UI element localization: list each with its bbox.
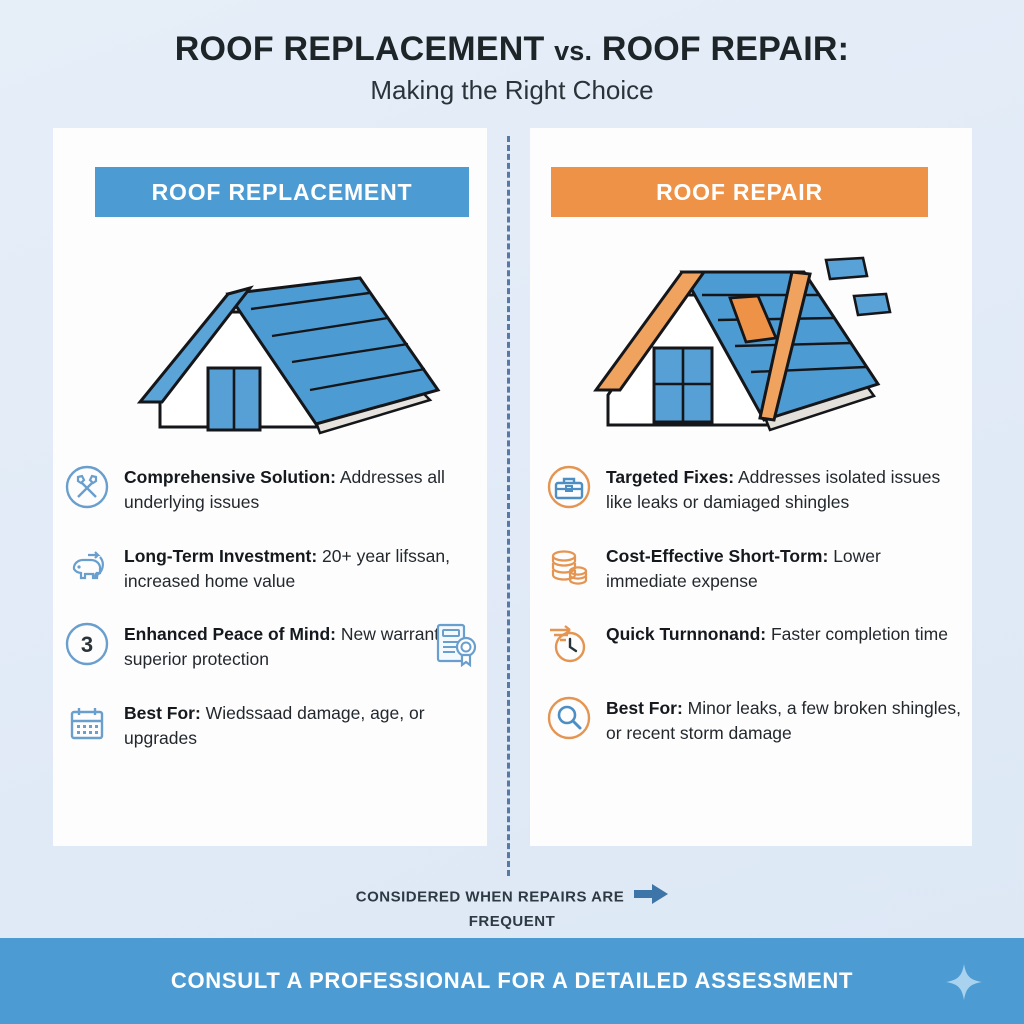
footer-cta-text: CONSULT A PROFESSIONAL FOR A DETAILED AS… xyxy=(0,938,1024,1024)
page-subtitle: Making the Right Choice xyxy=(0,75,1024,106)
bullet-title: Quick Turnnonand: xyxy=(606,624,766,644)
infographic-canvas: ROOF REPLACEMENT vs. ROOF REPAIR: Making… xyxy=(0,0,1024,1024)
title-part-vs: vs. xyxy=(554,36,592,66)
certificate-seal-icon xyxy=(430,619,482,671)
bullet-title: Enhanced Peace of Mind: xyxy=(124,624,336,644)
bullet-title: Cost-Effective Short-Torm: xyxy=(606,546,828,566)
fast-clock-icon xyxy=(546,621,592,667)
footer-banner: CONSULT A PROFESSIONAL FOR A DETAILED AS… xyxy=(0,938,1024,1024)
bullet-title: Comprehensive Solution: xyxy=(124,467,336,487)
piggy-bank-return-icon xyxy=(64,543,110,589)
number-three-icon: 3 xyxy=(64,621,110,667)
title-part-replacement: ROOF REPLACEMENT xyxy=(175,30,554,68)
sparkle-icon xyxy=(946,964,982,1000)
page-header: ROOF REPLACEMENT vs. ROOF REPAIR: Making… xyxy=(0,30,1024,106)
tools-crossed-icon xyxy=(64,464,110,510)
calendar-icon xyxy=(64,700,110,746)
bullet-item: Best For: Minor leaks, a few broken shin… xyxy=(546,693,962,746)
bullet-text: Cost-Effective Short-Torm: Lower immedia… xyxy=(606,541,962,594)
coin-stack-icon xyxy=(546,543,592,589)
bullet-item: Long-Term Investment: 20+ year lifssan, … xyxy=(64,541,476,594)
bullet-text: Best For: Wiedssaad damage, age, or upgr… xyxy=(124,698,476,751)
column-header-replacement: ROOF REPLACEMENT xyxy=(95,167,469,217)
bottom-note-line1: CONSIDERED WHEN REPAIRS ARE xyxy=(356,888,625,905)
bullet-text: Long-Term Investment: 20+ year lifssan, … xyxy=(124,541,476,594)
page-title: ROOF REPLACEMENT vs. ROOF REPAIR: xyxy=(0,30,1024,68)
svg-text:3: 3 xyxy=(81,632,93,657)
bullet-item: Best For: Wiedssaad damage, age, or upgr… xyxy=(64,698,476,751)
bottom-note: CONSIDERED WHEN REPAIRS ARE FREQUENT xyxy=(0,884,1024,933)
arrow-right-icon xyxy=(634,884,668,911)
bullet-text: Targeted Fixes: Addresses isolated issue… xyxy=(606,462,962,515)
bullet-list-replacement: Comprehensive Solution: Addresses all un… xyxy=(64,462,476,777)
bullet-title: Long-Term Investment: xyxy=(124,546,317,566)
bullet-item: Cost-Effective Short-Torm: Lower immedia… xyxy=(546,541,962,594)
bullet-text: Best For: Minor leaks, a few broken shin… xyxy=(606,693,962,746)
bullet-item: Targeted Fixes: Addresses isolated issue… xyxy=(546,462,962,515)
bullet-item: Quick Turnnonand: Faster completion time xyxy=(546,619,962,667)
bullet-title: Best For: xyxy=(124,703,201,723)
title-part-repair: ROOF REPAIR: xyxy=(592,30,849,68)
house-illustration-replacement xyxy=(120,252,460,442)
bullet-list-repair: Targeted Fixes: Addresses isolated issue… xyxy=(546,462,962,772)
bullet-text: Quick Turnnonand: Faster completion time xyxy=(606,619,948,647)
bullet-item: 3 Enhanced Peace of Mind: New warranties… xyxy=(64,619,476,672)
toolbox-icon xyxy=(546,464,592,510)
vertical-dashed-divider xyxy=(507,136,510,876)
bullet-title: Best For: xyxy=(606,698,683,718)
bottom-note-line2: FREQUENT xyxy=(0,911,1024,933)
column-header-repair: ROOF REPAIR xyxy=(551,167,928,217)
magnifier-icon xyxy=(546,695,592,741)
bullet-item: Comprehensive Solution: Addresses all un… xyxy=(64,462,476,515)
bullet-text: Comprehensive Solution: Addresses all un… xyxy=(124,462,476,515)
house-illustration-repair xyxy=(578,250,938,445)
bullet-title: Targeted Fixes: xyxy=(606,467,734,487)
bullet-body: Faster completion time xyxy=(766,624,948,644)
bullet-text: Enhanced Peace of Mind: New warranties, … xyxy=(124,619,476,672)
